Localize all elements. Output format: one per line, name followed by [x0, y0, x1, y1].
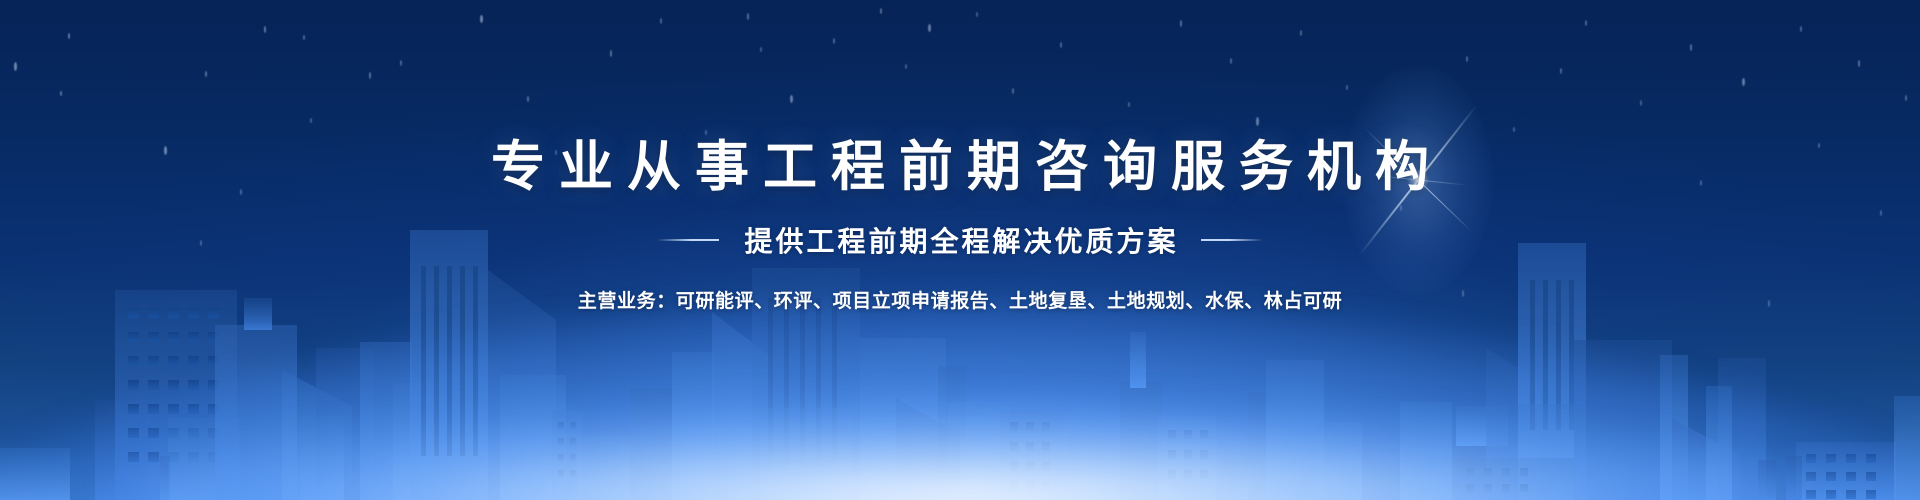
hero-banner: 专业从事工程前期咨询服务机构 提供工程前期全程解决优质方案 主营业务：可研能评、… — [0, 0, 1920, 500]
banner-headline: 专业从事工程前期咨询服务机构 — [477, 140, 1443, 194]
banner-content: 专业从事工程前期咨询服务机构 提供工程前期全程解决优质方案 主营业务：可研能评、… — [0, 0, 1920, 500]
banner-subtitle-row: 提供工程前期全程解决优质方案 — [657, 220, 1262, 260]
banner-subtitle: 提供工程前期全程解决优质方案 — [741, 220, 1178, 260]
decor-dash-left-icon — [657, 239, 719, 241]
decor-dash-right-icon — [1201, 239, 1263, 241]
banner-business-scope: 主营业务：可研能评、环评、项目立项申请报告、土地复垦、土地规划、水保、林占可研 — [578, 286, 1342, 313]
